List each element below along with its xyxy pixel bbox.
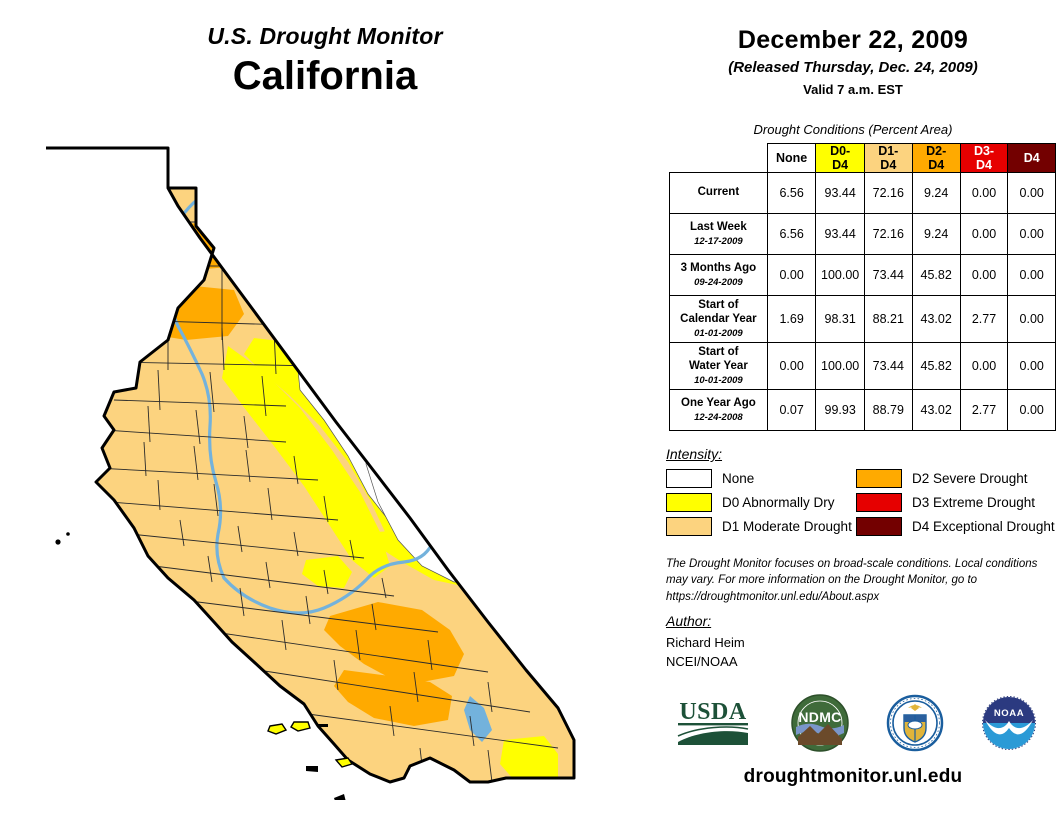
table-row-date: 12-17-2009 xyxy=(674,236,763,247)
table-row: Start ofWater Year10-01-20090.00100.0073… xyxy=(670,342,1056,389)
table-row: One Year Ago12-24-20080.0799.9388.7943.0… xyxy=(670,389,1056,430)
california-drought-map[interactable] xyxy=(18,130,638,800)
ndmc-logo: NDMC xyxy=(790,693,850,758)
legend-label: D4 Exceptional Drought xyxy=(912,519,1055,534)
table-cell: 0.00 xyxy=(1008,342,1056,389)
table-cell: 0.00 xyxy=(960,173,1008,214)
table-cell: 100.00 xyxy=(816,255,864,296)
author-name: Richard Heim xyxy=(666,634,745,653)
table-row: Start ofCalendar Year01-01-20091.6998.31… xyxy=(670,296,1056,343)
title-block: U.S. Drought Monitor California xyxy=(0,24,650,99)
table-row-date: 01-01-2009 xyxy=(674,328,763,339)
table-corner-cell xyxy=(670,144,768,173)
table-cell: 0.00 xyxy=(767,255,816,296)
san-francisco-bay xyxy=(96,510,118,554)
usda-logo: USDA xyxy=(672,695,754,756)
table-row-label: Current xyxy=(670,173,768,214)
valid-time: Valid 7 a.m. EST xyxy=(650,82,1056,97)
disclaimer-text: The Drought Monitor focuses on broad-sca… xyxy=(666,556,1054,605)
table-row-label: 3 Months Ago09-24-2009 xyxy=(670,255,768,296)
release-date: (Released Thursday, Dec. 24, 2009) xyxy=(650,59,1056,76)
table-cell: 0.00 xyxy=(1008,255,1056,296)
info-panel: December 22, 2009 (Released Thursday, De… xyxy=(650,0,1056,816)
drought-conditions-table: NoneD0-D4D1-D4D2-D4D3-D4D4 Current6.5693… xyxy=(669,143,1056,431)
table-col-header-d2-d4: D2-D4 xyxy=(912,144,960,173)
table-cell: 2.77 xyxy=(960,389,1008,430)
legend-swatch xyxy=(856,493,902,512)
legend-label: D0 Abnormally Dry xyxy=(722,495,835,510)
table-cell: 72.16 xyxy=(864,173,912,214)
table-cell: 43.02 xyxy=(912,389,960,430)
table-row-date: 09-24-2009 xyxy=(674,277,763,288)
table-cell: 1.69 xyxy=(767,296,816,343)
map-date: December 22, 2009 xyxy=(650,26,1056,55)
table-cell: 0.07 xyxy=(767,389,816,430)
logo-row: USDA NDMC xyxy=(654,692,1056,758)
table-cell: 0.00 xyxy=(1008,296,1056,343)
table-cell: 73.44 xyxy=(864,255,912,296)
table-cell: 99.93 xyxy=(816,389,864,430)
legend-swatch xyxy=(666,517,712,536)
legend-item: D4 Exceptional Drought xyxy=(856,517,1056,536)
table-cell: 2.77 xyxy=(960,296,1008,343)
table-cell: 100.00 xyxy=(816,342,864,389)
legend-swatch xyxy=(856,517,902,536)
table-cell: 93.44 xyxy=(816,173,864,214)
svg-text:USDA: USDA xyxy=(679,699,747,725)
table-cell: 88.79 xyxy=(864,389,912,430)
legend-label: D3 Extreme Drought xyxy=(912,495,1035,510)
table-caption: Drought Conditions (Percent Area) xyxy=(650,122,1056,137)
table-cell: 45.82 xyxy=(912,255,960,296)
table-row: Current6.5693.4472.169.240.000.00 xyxy=(670,173,1056,214)
table-cell: 6.56 xyxy=(767,173,816,214)
table-cell: 9.24 xyxy=(912,214,960,255)
table-cell: 0.00 xyxy=(960,342,1008,389)
legend-item: D0 Abnormally Dry xyxy=(666,493,856,512)
map-panel: U.S. Drought Monitor California xyxy=(0,0,650,816)
table-cell: 72.16 xyxy=(864,214,912,255)
legend-swatch xyxy=(666,469,712,488)
table-cell: 0.00 xyxy=(1008,389,1056,430)
website-url: droughtmonitor.unl.edu xyxy=(650,766,1056,788)
legend-item: None xyxy=(666,469,856,488)
map-zone-d0-north-coast xyxy=(36,142,138,360)
legend-swatch xyxy=(856,469,902,488)
table-row: 3 Months Ago09-24-20090.00100.0073.4445.… xyxy=(670,255,1056,296)
intensity-heading: Intensity: xyxy=(666,446,722,462)
svg-text:NDMC: NDMC xyxy=(798,709,841,725)
legend-label: None xyxy=(722,471,754,486)
author-heading: Author: xyxy=(666,613,711,629)
table-col-header-none: None xyxy=(767,144,816,173)
table-row-date: 12-24-2008 xyxy=(674,412,763,423)
table-row: Last Week12-17-20096.5693.4472.169.240.0… xyxy=(670,214,1056,255)
table-cell: 0.00 xyxy=(767,342,816,389)
table-cell: 9.24 xyxy=(912,173,960,214)
map-zone-d2-northeast xyxy=(146,216,320,270)
table-row-label: One Year Ago12-24-2008 xyxy=(670,389,768,430)
table-row-label: Last Week12-17-2009 xyxy=(670,214,768,255)
table-col-header-d0-d4: D0-D4 xyxy=(816,144,864,173)
table-cell: 73.44 xyxy=(864,342,912,389)
table-cell: 88.21 xyxy=(864,296,912,343)
table-cell: 43.02 xyxy=(912,296,960,343)
lake-tahoe xyxy=(353,383,371,413)
table-col-header-d1-d4: D1-D4 xyxy=(864,144,912,173)
table-cell: 0.00 xyxy=(960,214,1008,255)
map-drought-layers xyxy=(18,130,638,800)
table-cell: 93.44 xyxy=(816,214,864,255)
page-subtitle-state: California xyxy=(0,53,650,99)
date-block: December 22, 2009 (Released Thursday, De… xyxy=(650,26,1056,97)
legend-label: D2 Severe Drought xyxy=(912,471,1028,486)
author-block: Richard Heim NCEI/NOAA xyxy=(666,634,745,672)
legend-item: D1 Moderate Drought xyxy=(666,517,856,536)
map-zone-d2-north-mid xyxy=(110,244,160,308)
author-affiliation: NCEI/NOAA xyxy=(666,653,745,672)
commerce-seal xyxy=(886,694,944,757)
noaa-logo: NOAA xyxy=(980,694,1038,757)
table-cell: 0.00 xyxy=(1008,214,1056,255)
table-row-label: Start ofCalendar Year01-01-2009 xyxy=(670,296,768,343)
table-cell: 0.00 xyxy=(1008,173,1056,214)
intensity-legend: NoneD2 Severe DroughtD0 Abnormally DryD3… xyxy=(666,466,1056,538)
legend-swatch xyxy=(666,493,712,512)
table-cell: 98.31 xyxy=(816,296,864,343)
table-cell: 0.00 xyxy=(960,255,1008,296)
table-cell: 45.82 xyxy=(912,342,960,389)
svg-text:NOAA: NOAA xyxy=(994,708,1024,719)
map-svg xyxy=(18,130,638,800)
table-body: Current6.5693.4472.169.240.000.00Last We… xyxy=(670,173,1056,431)
legend-item: D2 Severe Drought xyxy=(856,469,1056,488)
map-zone-d0-la-coast xyxy=(278,726,326,764)
table-row-date: 10-01-2009 xyxy=(674,375,763,386)
table-cell: 6.56 xyxy=(767,214,816,255)
table-row-label: Start ofWater Year10-01-2009 xyxy=(670,342,768,389)
legend-item: D3 Extreme Drought xyxy=(856,493,1056,512)
table-col-header-d3-d4: D3-D4 xyxy=(960,144,1008,173)
table-header-row: NoneD0-D4D1-D4D2-D4D3-D4D4 xyxy=(670,144,1056,173)
page-title: U.S. Drought Monitor xyxy=(0,24,650,49)
table-col-header-d4: D4 xyxy=(1008,144,1056,173)
legend-label: D1 Moderate Drought xyxy=(722,519,852,534)
